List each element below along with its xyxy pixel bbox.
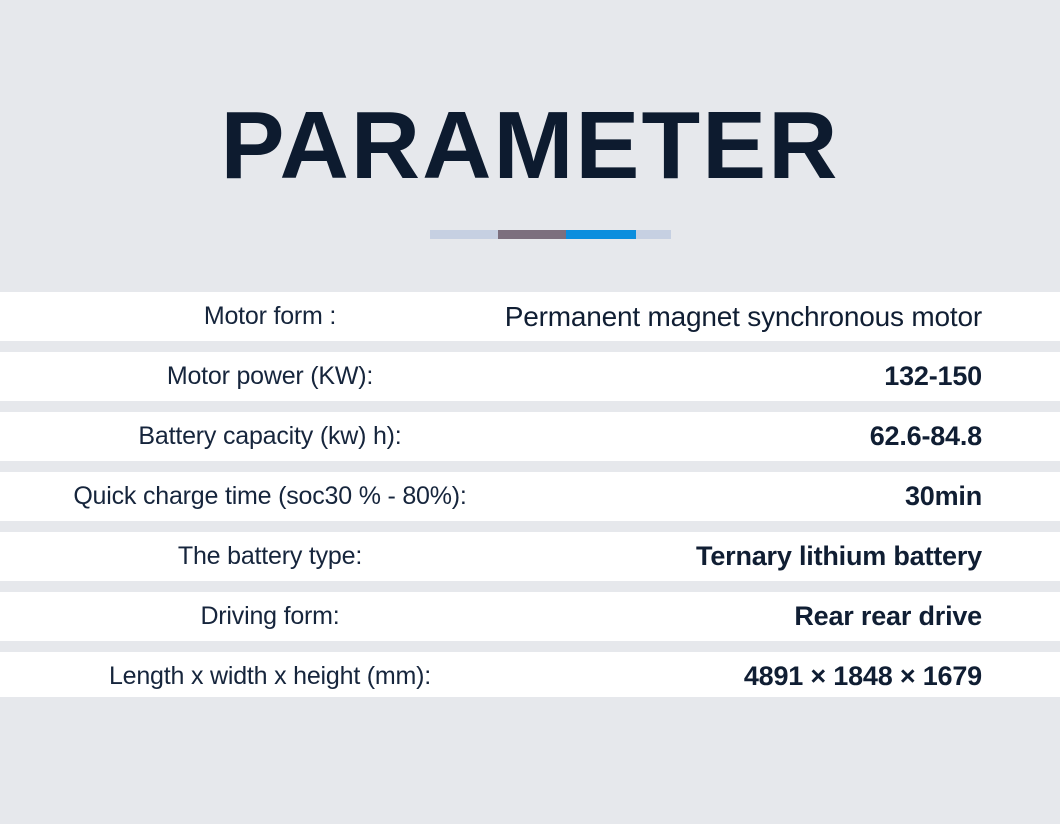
table-row: Quick charge time (soc30 % - 80%):30min (0, 472, 1060, 521)
spec-value: 62.6-84.8 (500, 421, 1060, 452)
table-row-inner: The battery type:Ternary lithium battery (0, 532, 1060, 581)
spec-label: Quick charge time (soc30 % - 80%): (0, 482, 500, 511)
spec-label: The battery type: (0, 542, 500, 571)
spec-value: Ternary lithium battery (500, 541, 1060, 572)
spec-table: Motor form :Permanent magnet synchronous… (0, 292, 1060, 712)
table-row: Driving form:Rear rear drive (0, 592, 1060, 641)
table-row: The battery type:Ternary lithium battery (0, 532, 1060, 581)
spec-value: 132-150 (500, 361, 1060, 392)
spec-label: Battery capacity (kw) h): (0, 422, 500, 451)
table-row: Motor form :Permanent magnet synchronous… (0, 292, 1060, 341)
divider-segment-light-right (636, 230, 671, 239)
spec-value: 30min (500, 481, 1060, 512)
table-row: Battery capacity (kw) h):62.6-84.8 (0, 412, 1060, 461)
table-row-inner: Motor power (KW):132-150 (0, 352, 1060, 401)
table-row-inner: Quick charge time (soc30 % - 80%):30min (0, 472, 1060, 521)
page-header: PARAMETER (0, 0, 1060, 292)
table-row: Length x width x height (mm):4891 × 1848… (0, 652, 1060, 701)
spec-value: Permanent magnet synchronous motor (500, 301, 1060, 333)
footer-spacer (0, 697, 1060, 824)
spec-label: Driving form: (0, 602, 500, 631)
spec-label: Length x width x height (mm): (0, 662, 500, 691)
spec-label: Motor power (KW): (0, 362, 500, 391)
divider-segment-light-left (430, 230, 498, 239)
table-row: Motor power (KW):132-150 (0, 352, 1060, 401)
table-row-inner: Motor form :Permanent magnet synchronous… (0, 292, 1060, 341)
accent-divider (430, 230, 671, 239)
table-row-inner: Length x width x height (mm):4891 × 1848… (0, 652, 1060, 701)
spec-value: Rear rear drive (500, 601, 1060, 632)
table-row-inner: Driving form:Rear rear drive (0, 592, 1060, 641)
divider-segment-blue (566, 230, 636, 239)
divider-segment-mauve (498, 230, 566, 239)
spec-label: Motor form : (0, 302, 500, 331)
parameter-spec-page: PARAMETER Motor form :Permanent magnet s… (0, 0, 1060, 824)
page-title: PARAMETER (0, 94, 1060, 198)
table-row-inner: Battery capacity (kw) h):62.6-84.8 (0, 412, 1060, 461)
spec-value: 4891 × 1848 × 1679 (500, 661, 1060, 692)
